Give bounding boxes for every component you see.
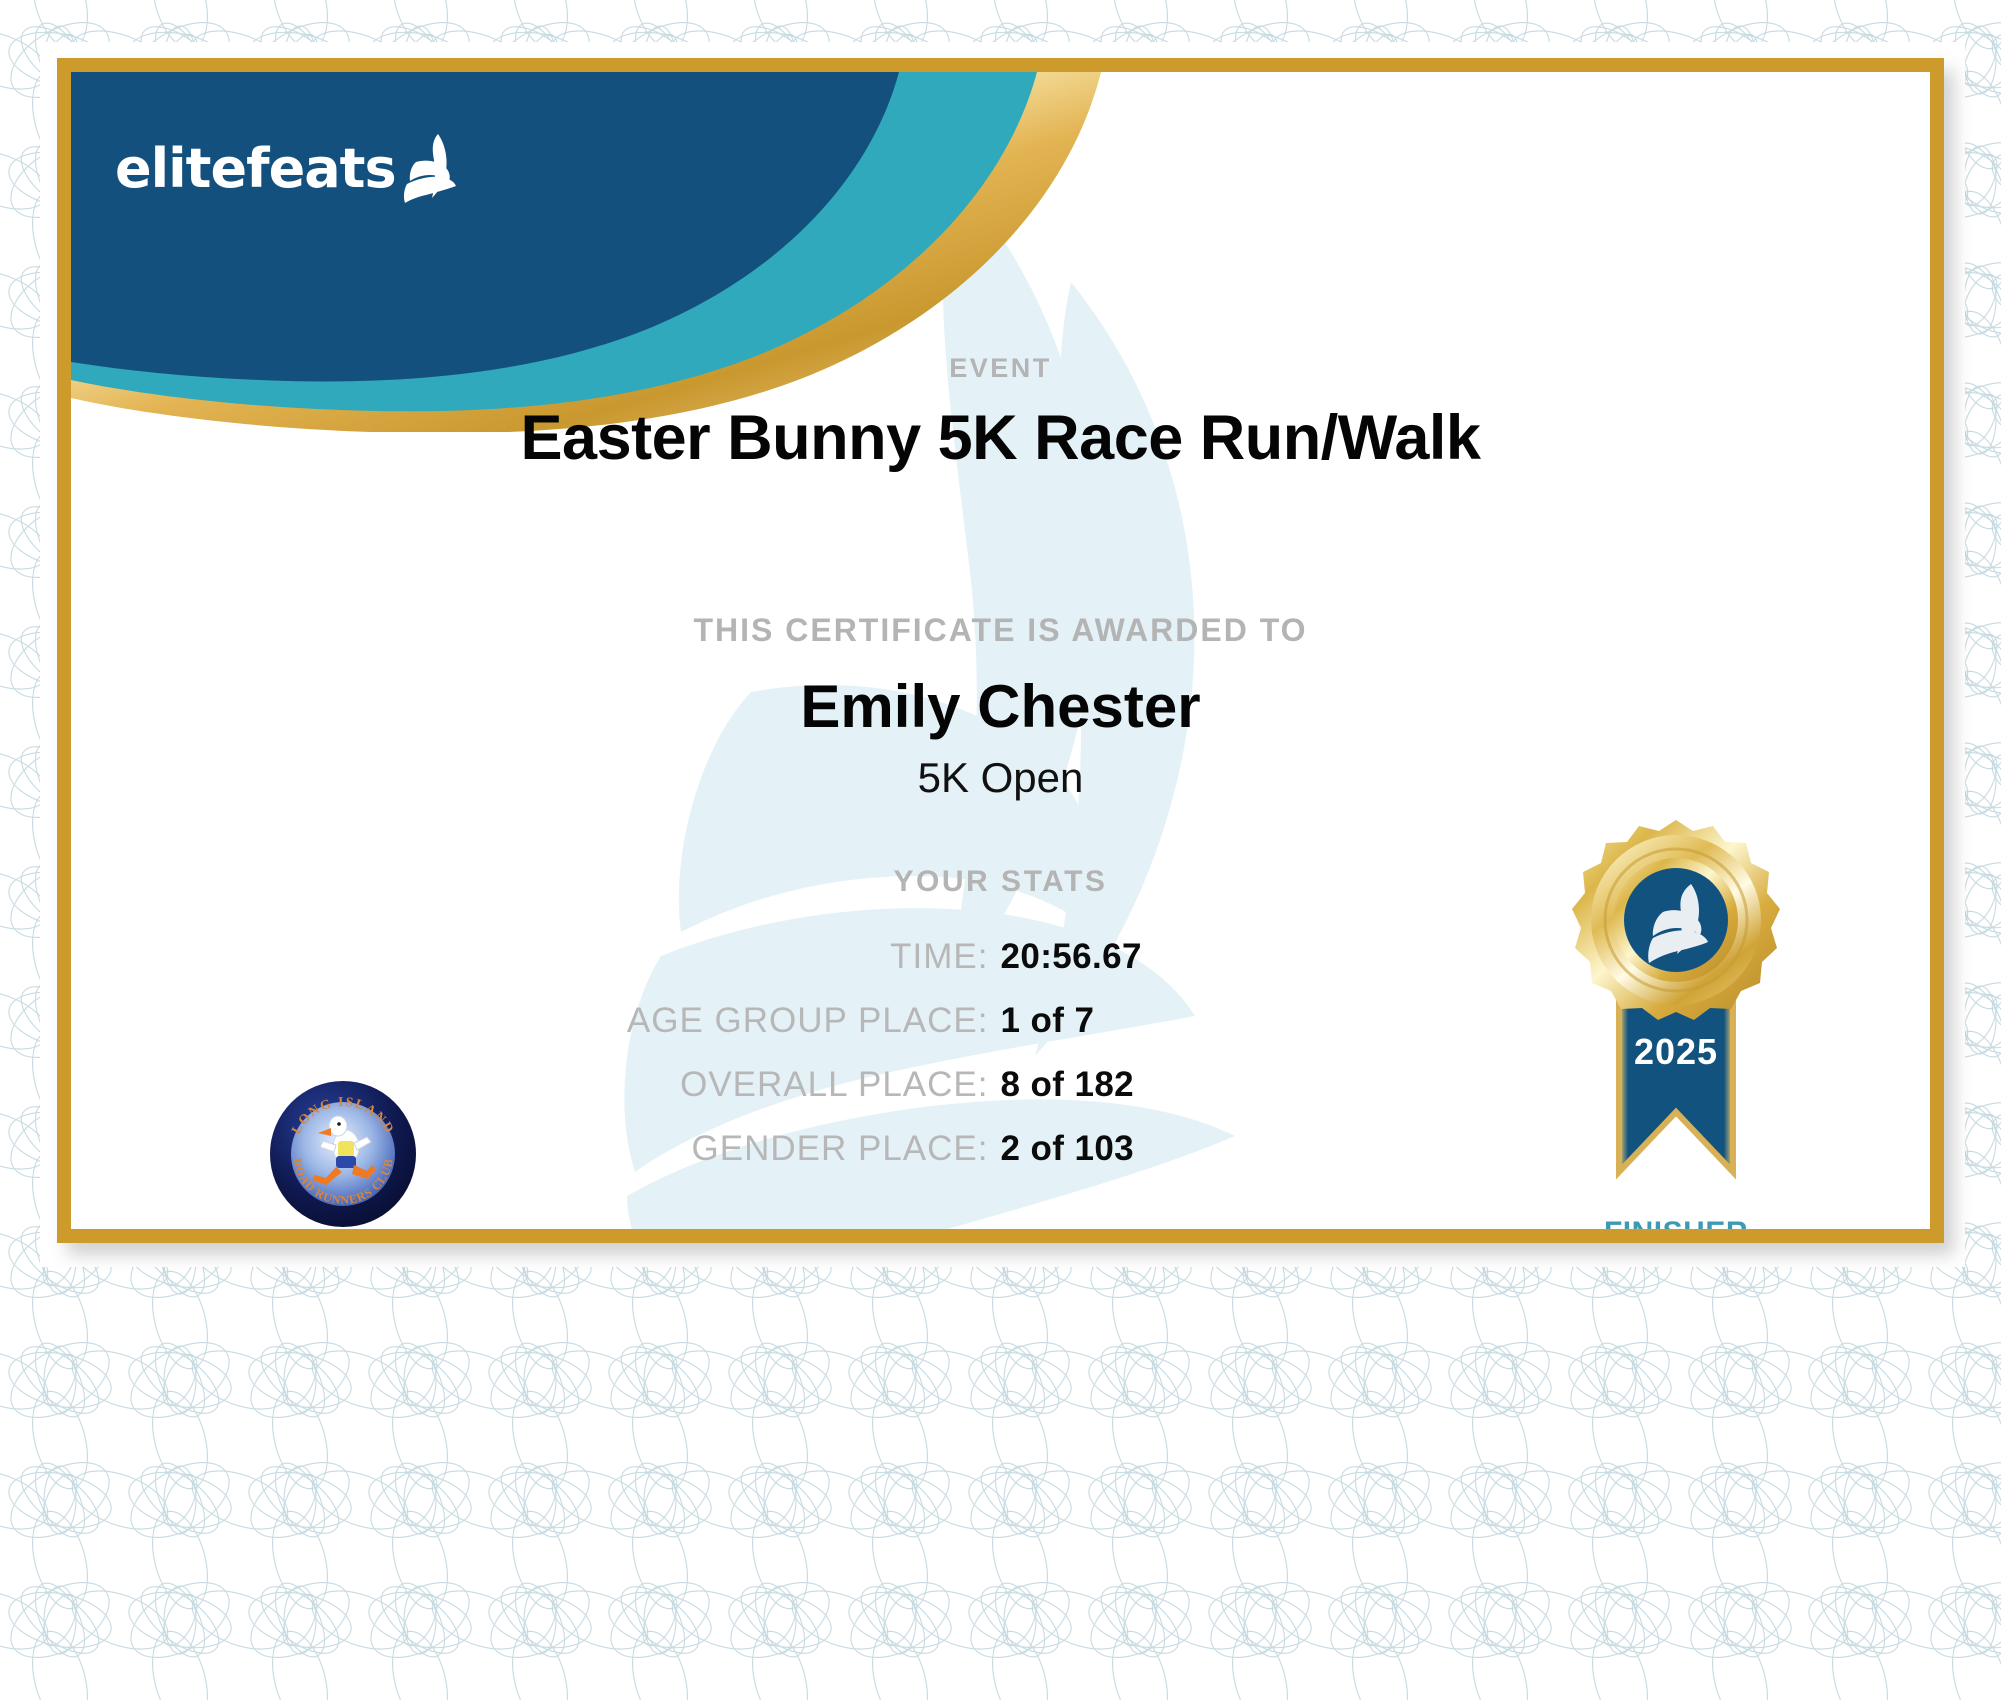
medal-year: 2025: [1634, 1031, 1718, 1072]
stat-label-time: TIME:: [416, 937, 1001, 977]
finisher-certificate-caption: FINISHER CERTIFICATE: [1511, 1216, 1841, 1229]
medal-rosette: [1572, 820, 1780, 1020]
gold-rosette-medal-icon: 2025: [1541, 812, 1811, 1212]
recipient-name: Emily Chester: [71, 672, 1930, 741]
winged-foot-icon: [398, 132, 460, 206]
stat-label-overall-place: OVERALL PLACE:: [416, 1065, 1001, 1105]
finisher-medal-block: 2025: [1511, 812, 1841, 1229]
medal-ribbon: [1619, 1002, 1733, 1172]
event-logo: LONG ISLAND ROAD RUNNERS CLUB EASTER BUN…: [218, 1079, 468, 1229]
elitefeats-wordmark: elitefeats: [115, 142, 396, 196]
elitefeats-logo: elitefeats: [115, 124, 465, 214]
long-island-road-runners-club-emblem-icon: LONG ISLAND ROAD RUNNERS CLUB: [268, 1079, 418, 1229]
stat-value-age-group-place: 1 of 7: [1001, 1001, 1586, 1041]
stat-value-overall-place: 8 of 182: [1001, 1065, 1586, 1105]
certificate-inner: elitefeats EVENT Easter Bunny 5K Race Ru…: [71, 72, 1930, 1229]
stat-value-gender-place: 2 of 103: [1001, 1129, 1586, 1169]
recipient-division: 5K Open: [71, 754, 1930, 802]
certificate-page: elitefeats EVENT Easter Bunny 5K Race Ru…: [0, 0, 2001, 1700]
medal-caption-line1: FINISHER: [1511, 1216, 1841, 1229]
stat-label-age-group-place: AGE GROUP PLACE:: [416, 1001, 1001, 1041]
certificate-card: elitefeats EVENT Easter Bunny 5K Race Ru…: [57, 58, 1944, 1243]
event-caption: EVENT: [71, 353, 1930, 384]
awarded-to-caption: THIS CERTIFICATE IS AWARDED TO: [71, 612, 1930, 649]
stat-value-time: 20:56.67: [1001, 937, 1586, 977]
event-title: Easter Bunny 5K Race Run/Walk: [71, 402, 1930, 474]
stat-label-gender-place: GENDER PLACE:: [416, 1129, 1001, 1169]
